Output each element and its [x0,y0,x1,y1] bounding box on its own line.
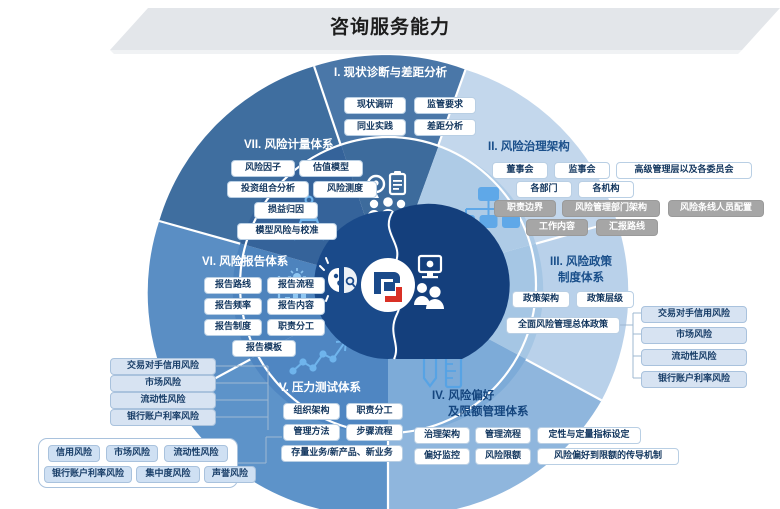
sector-I-item-4[interactable]: 差距分析 [414,119,476,136]
sector-III-title-line2: 制度体系 [526,271,636,286]
sector-I-item-2[interactable]: 监管要求 [414,97,476,114]
sector-III-title-line1: III. 风险政策 [526,255,636,270]
sector-V-item-3[interactable]: 管理方法 [283,424,340,441]
sector-II-item-3[interactable]: 高级管理层以及各委员会 [616,162,752,179]
sector-II-gray-item-2[interactable]: 风险管理部门架构 [562,200,660,217]
sector-VI-item-6[interactable]: 职责分工 [267,319,325,336]
sector-VII-item-6[interactable]: 模型风险与校准 [237,223,337,240]
sector-IV-item-5[interactable]: 风险限额 [475,448,531,465]
sector-V-item-2[interactable]: 职责分工 [346,403,403,420]
risk-type-item-3[interactable]: 流动性风险 [164,445,228,462]
risk-type-item-5[interactable]: 集中度风险 [136,466,200,483]
sector-VI-item-7[interactable]: 报告模板 [232,340,296,357]
sector-VII-title: VII. 风险计量体系 [244,138,333,153]
sector-II-item-2[interactable]: 监事会 [554,162,610,179]
sector-I-item-3[interactable]: 同业实践 [344,119,406,136]
sector-V-item-5[interactable]: 存量业务/新产品、新业务 [281,445,403,462]
sector-IV-item-3[interactable]: 定性与定量指标设定 [537,427,641,444]
sector-VI-title: VI. 风险报告体系 [202,255,288,270]
sector-VI-branch-3[interactable]: 流动性风险 [110,392,216,409]
sector-IV-item-2[interactable]: 管理流程 [475,427,531,444]
sector-VI-branch-1[interactable]: 交易对手信用风险 [110,358,216,375]
sector-III-item-2[interactable]: 政策层级 [576,291,634,308]
sector-VII-item-2[interactable]: 估值模型 [299,160,363,177]
sector-VI-item-4[interactable]: 报告内容 [267,298,325,315]
sector-III-branch-4[interactable]: 银行账户利率风险 [641,371,747,388]
sector-IV-title-line1: IV. 风险偏好 [432,389,494,404]
sector-II-title: II. 风险治理架构 [488,140,570,155]
sector-IV-title-line2: 及限额管理体系 [448,405,529,420]
sector-III-item-1[interactable]: 政策架构 [512,291,570,308]
sector-VII-item-5[interactable]: 损益归因 [254,202,318,219]
sector-II-gray-item-5[interactable]: 汇报路线 [596,219,658,236]
sector-VII-item-4[interactable]: 风险测度 [313,181,377,198]
risk-type-item-6[interactable]: 声誉风险 [204,466,256,483]
diagram-canvas: 咨询服务能力 [0,0,780,509]
sector-IV-item-1[interactable]: 治理架构 [414,427,470,444]
sector-VI-item-3[interactable]: 报告频率 [204,298,262,315]
sector-VI-item-2[interactable]: 报告流程 [267,277,325,294]
sector-III-item-3[interactable]: 全面风险管理总体政策 [506,317,620,334]
sector-IV-item-6[interactable]: 风险偏好到限额的传导机制 [537,448,679,465]
sector-VI-branch-2[interactable]: 市场风险 [110,375,216,392]
sector-I-item-1[interactable]: 现状调研 [344,97,406,114]
risk-type-item-2[interactable]: 市场风险 [106,445,158,462]
sector-V-title: V. 压力测试体系 [279,381,361,396]
risk-type-item-4[interactable]: 银行账户利率风险 [44,466,132,483]
sector-II-item-1[interactable]: 董事会 [492,162,548,179]
sector-V-item-4[interactable]: 步骤流程 [346,424,403,441]
sector-III-branch-1[interactable]: 交易对手信用风险 [641,306,747,323]
sector-V-item-1[interactable]: 组织架构 [283,403,340,420]
sector-II-gray-item-4[interactable]: 工作内容 [526,219,588,236]
sector-VII-item-1[interactable]: 风险因子 [231,160,295,177]
sector-IV-item-4[interactable]: 偏好监控 [414,448,470,465]
sector-II-item-4[interactable]: 各部门 [516,181,572,198]
sector-II-gray-item-1[interactable]: 职责边界 [494,200,556,217]
sector-VI-item-5[interactable]: 报告制度 [204,319,262,336]
risk-type-item-1[interactable]: 信用风险 [48,445,100,462]
sector-VII-item-3[interactable]: 投资组合分析 [227,181,309,198]
sector-I-title: I. 现状诊断与差距分析 [334,66,447,81]
sector-II-gray-item-3[interactable]: 风险条线人员配置 [668,200,764,217]
sector-II-item-5[interactable]: 各机构 [578,181,634,198]
sector-VI-branch-4[interactable]: 银行账户利率风险 [110,409,216,426]
sector-VI-item-1[interactable]: 报告路线 [204,277,262,294]
sector-III-branch-2[interactable]: 市场风险 [641,327,747,344]
sector-III-branch-3[interactable]: 流动性风险 [641,349,747,366]
